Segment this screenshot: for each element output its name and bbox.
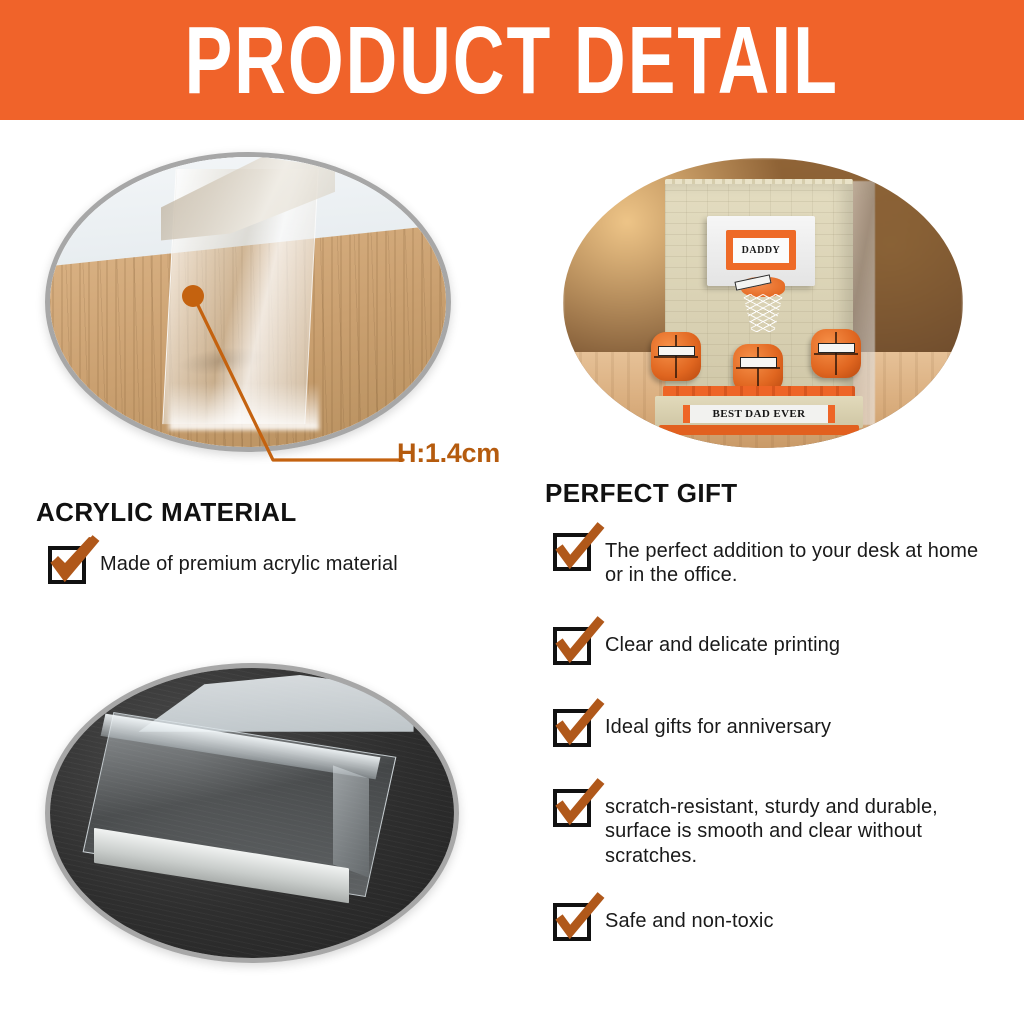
checklist-item-label: Made of premium acrylic material xyxy=(100,546,398,576)
checklist-item: Safe and non-toxic xyxy=(553,903,993,941)
backboard-name-text: DADDY xyxy=(742,245,781,256)
basketball-1 xyxy=(651,332,701,381)
checklist-item: Made of premium acrylic material xyxy=(48,546,528,584)
acrylic-block-on-slate-photo xyxy=(45,663,459,963)
best-dad-ever-plaque: BEST DAD EVER xyxy=(683,405,835,424)
plaque-text: BEST DAD EVER xyxy=(712,408,805,420)
check-icon xyxy=(49,536,101,586)
check-icon xyxy=(554,523,606,573)
basketball-3-name-tag xyxy=(818,343,855,353)
checkbox-box xyxy=(553,789,591,827)
checklist-item: Clear and delicate printing xyxy=(553,627,993,665)
acrylic-block-side-face xyxy=(333,766,369,878)
checkbox-box xyxy=(553,903,591,941)
checkbox-box xyxy=(553,627,591,665)
height-callout-label: H:1.4cm xyxy=(397,438,500,469)
checklist-item: scratch-resistant, sturdy and durable, s… xyxy=(553,789,1003,868)
check-icon xyxy=(554,779,606,829)
basketball-1-name-tag xyxy=(658,346,695,356)
lego-basketball-hoop-product-photo: DADDY BEST DAD EVER xyxy=(563,158,963,448)
section-heading-acrylic-material: ACRYLIC MATERIAL xyxy=(36,497,297,528)
checklist-item: The perfect addition to your desk at hom… xyxy=(553,533,993,588)
check-icon xyxy=(554,617,606,667)
checkbox-box xyxy=(48,546,86,584)
section-heading-perfect-gift: PERFECT GIFT xyxy=(545,478,738,509)
checklist-item-label: Clear and delicate printing xyxy=(605,627,840,657)
page-title: PRODUCT DETAIL xyxy=(185,12,839,107)
check-icon xyxy=(554,699,606,749)
check-icon xyxy=(554,893,606,943)
checklist-item-label: The perfect addition to your desk at hom… xyxy=(605,533,993,588)
header-banner: PRODUCT DETAIL xyxy=(0,0,1024,120)
backboard-name-plate: DADDY xyxy=(733,238,790,263)
basketball-2-name-tag xyxy=(740,357,777,367)
checkbox-box xyxy=(553,533,591,571)
checklist-item: Ideal gifts for anniversary xyxy=(553,709,993,747)
checklist-item-label: Ideal gifts for anniversary xyxy=(605,709,831,739)
checklist-item-label: Safe and non-toxic xyxy=(605,903,774,933)
callout-anchor-dot xyxy=(182,285,204,307)
checkbox-box xyxy=(553,709,591,747)
checklist-item-label: scratch-resistant, sturdy and durable, s… xyxy=(605,789,1003,868)
backboard-orange-frame: DADDY xyxy=(726,230,795,270)
basketball-3 xyxy=(811,329,861,378)
product-base-foot xyxy=(659,425,859,435)
